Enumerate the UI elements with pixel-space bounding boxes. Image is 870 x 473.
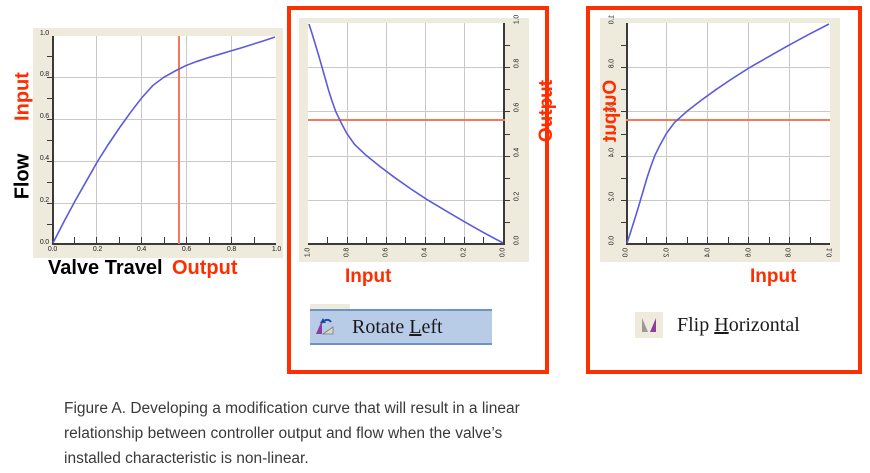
panel2-y-tick: 0.4 bbox=[514, 145, 521, 161]
panel2-y-title-output: Output bbox=[536, 73, 558, 149]
panel1-chart-plate: 0.0 0.2 0.4 0.6 0.8 1.0 0.0 0.2 0.4 0.6 … bbox=[33, 28, 283, 258]
panel3-x-tick: 0.2 bbox=[664, 245, 671, 261]
rotate-left-icon bbox=[310, 314, 338, 340]
panel1-x-tick: 0.2 bbox=[89, 246, 106, 253]
panel1-curve bbox=[33, 28, 283, 258]
panel3-y-tick: 1.0 bbox=[609, 12, 616, 28]
panel1-y-tick: 1.0 bbox=[29, 30, 49, 37]
panel2-x-tick: 0.4 bbox=[422, 245, 429, 261]
panel2-x-tick: 0.0 bbox=[500, 245, 507, 261]
panel2-y-tick: 0.6 bbox=[514, 100, 521, 116]
flip-horizontal-button[interactable]: Flip Horizontal bbox=[635, 308, 835, 342]
figure-root: 0.0 0.2 0.4 0.6 0.8 1.0 0.0 0.2 0.4 0.6 … bbox=[0, 0, 870, 473]
panel2-y-tick: 0.0 bbox=[514, 233, 521, 249]
panel2-curve bbox=[299, 18, 529, 262]
panel1-x-title-valve-travel: Valve Travel bbox=[48, 257, 163, 280]
panel1-x-tick: 0.0 bbox=[44, 246, 61, 253]
panel3-y-tick: 0.0 bbox=[609, 233, 616, 249]
panel2-x-tick: 0.6 bbox=[383, 245, 390, 261]
panel1-x-title-output: Output bbox=[172, 257, 238, 280]
panel3-y-title-output: Output bbox=[600, 73, 622, 149]
panel1-x-tick: 1.0 bbox=[268, 246, 285, 253]
rotate-left-button-label: Rotate Left bbox=[338, 316, 443, 339]
panel1-x-tick: 0.4 bbox=[133, 246, 150, 253]
panel3-x-tick: 0.6 bbox=[746, 245, 753, 261]
figure-caption: Figure A. Developing a modification curv… bbox=[64, 396, 704, 471]
panel1-x-tick: 0.6 bbox=[178, 246, 195, 253]
panel2-x-tick: 1.0 bbox=[305, 245, 312, 261]
panel2-chart-plate: 1.0 0.8 0.6 0.4 0.2 0.0 0.0 0.2 0.4 0.6 … bbox=[299, 18, 529, 262]
panel3-x-title-input: Input bbox=[750, 266, 796, 288]
panel1-y-title-input: Input bbox=[12, 66, 35, 128]
panel3-x-tick: 1.0 bbox=[827, 245, 834, 261]
panel2-x-title-input: Input bbox=[345, 266, 391, 288]
panel3-curve bbox=[600, 18, 840, 262]
panel3-chart-plate: 0.0 0.2 0.4 0.6 0.8 1.0 0.0 0.2 0.4 0.6 … bbox=[600, 18, 840, 262]
panel1-y-title-flow: Flow bbox=[12, 147, 35, 207]
panel2-y-tick: 0.8 bbox=[514, 56, 521, 72]
panel2-x-tick: 0.2 bbox=[461, 245, 468, 261]
caption-line: Figure A. Developing a modification curv… bbox=[64, 396, 704, 421]
panel3-x-tick: 0.0 bbox=[623, 245, 630, 261]
rotate-left-button[interactable]: Rotate Left bbox=[310, 309, 492, 345]
caption-line: relationship between controller output a… bbox=[64, 421, 704, 446]
panel3-x-tick: 0.8 bbox=[786, 245, 793, 261]
panel2-y-tick: 0.2 bbox=[514, 189, 521, 205]
panel3-y-tick: 0.2 bbox=[609, 189, 616, 205]
flip-horizontal-button-label: Flip Horizontal bbox=[663, 314, 800, 337]
caption-line: installed characteristic is non-linear. bbox=[64, 446, 704, 471]
panel2-x-tick: 0.8 bbox=[344, 245, 351, 261]
flip-horizontal-icon bbox=[635, 312, 663, 338]
panel2-y-tick: 1.0 bbox=[514, 12, 521, 28]
panel3-x-tick: 0.4 bbox=[705, 245, 712, 261]
panel3-y-tick: 0.8 bbox=[609, 56, 616, 72]
panel1-x-tick: 0.8 bbox=[223, 246, 240, 253]
panel1-y-tick: 0.0 bbox=[29, 239, 49, 246]
